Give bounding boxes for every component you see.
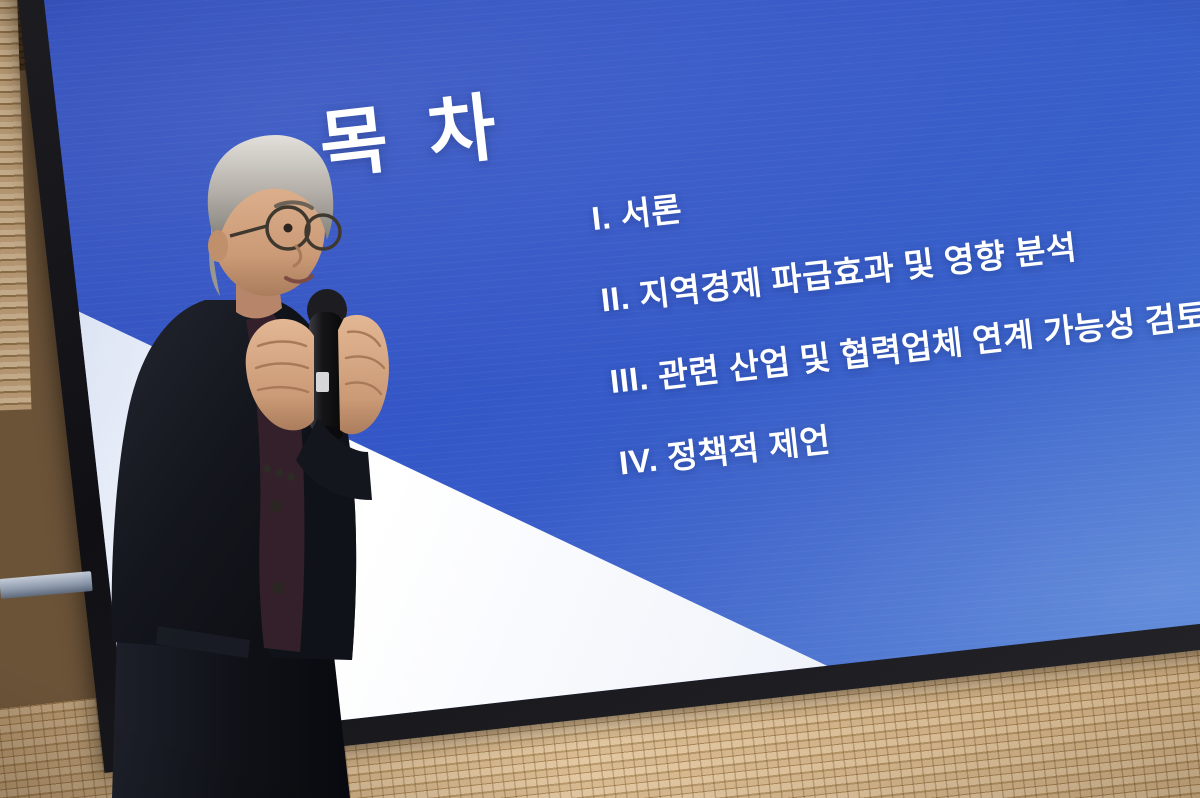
slide-title: 목 차 — [313, 67, 510, 194]
table-of-contents: I. 서론 II. 지역경제 파급효과 및 영향 분석 III. 관련 산업 및… — [589, 114, 1200, 484]
screen-panel: 목 차 I. 서론 II. 지역경제 파급효과 및 영향 분석 III. 관련 … — [44, 0, 1200, 744]
presentation-screen: 목 차 I. 서론 II. 지역경제 파급효과 및 영향 분석 III. 관련 … — [14, 0, 1200, 773]
presentation-photo: 목 차 I. 서론 II. 지역경제 파급효과 및 영향 분석 III. 관련 … — [0, 0, 1200, 798]
